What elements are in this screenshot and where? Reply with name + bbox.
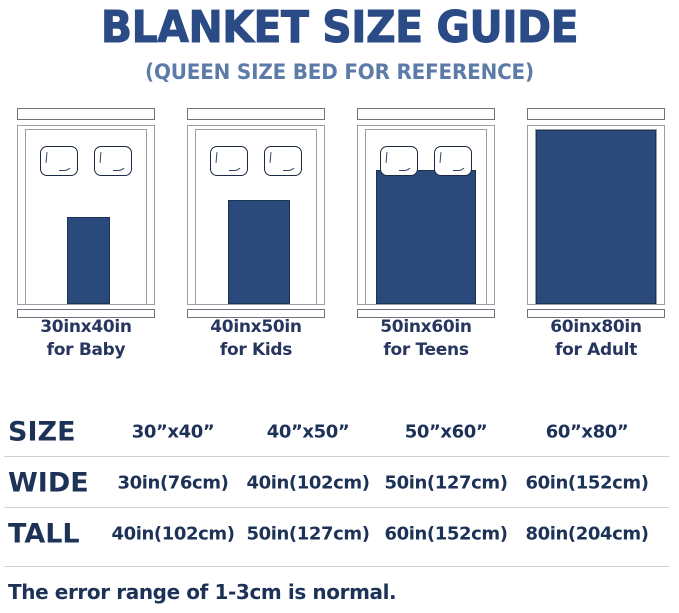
bed-size-text: 50inx60in [350, 316, 502, 339]
size-table: SIZE 30”x40” 40”x50” 50”x60” 60”x80” WID… [0, 406, 679, 559]
pillow-icon [210, 146, 248, 176]
table-row: WIDE 30in(76cm) 40in(102cm) 50in(127cm) … [0, 457, 679, 508]
table-cell: 50”x60” [381, 421, 511, 442]
row-label-wide: WIDE [8, 467, 89, 498]
bed-illustrations: 30inx40in for Baby 40inx50i [0, 108, 679, 358]
table-cell: 40in(102cm) [243, 472, 373, 493]
mattress-area [25, 129, 147, 304]
table-row: TALL 40in(102cm) 50in(127cm) 60in(152cm)… [0, 508, 679, 559]
bed-audience-text: for Teens [350, 339, 502, 362]
mattress-area [365, 129, 487, 304]
pillow-icon [380, 146, 418, 176]
bed-frame [187, 125, 325, 305]
bed-caption: 50inx60in for Teens [350, 316, 502, 361]
row-label-size: SIZE [8, 416, 76, 447]
footnote-text: The error range of 1-3cm is normal. [8, 580, 396, 604]
headboard-bar [187, 108, 325, 120]
pillow-icon [264, 146, 302, 176]
table-cell: 80in(204cm) [517, 523, 657, 544]
pillow-icon [434, 146, 472, 176]
table-cell: 60in(152cm) [381, 523, 511, 544]
bed-frame [357, 125, 495, 305]
bed-frame [527, 125, 665, 305]
table-cell: 50in(127cm) [243, 523, 373, 544]
bed-audience-text: for Adult [520, 339, 672, 362]
bed-size-text: 40inx50in [180, 316, 332, 339]
bed-caption: 30inx40in for Baby [10, 316, 162, 361]
blanket-size-guide-page: BLANKET SIZE GUIDE (QUEEN SIZE BED FOR R… [0, 0, 679, 613]
table-cell: 40in(102cm) [108, 523, 238, 544]
blanket-shape [228, 200, 289, 304]
pillow-icon [40, 146, 78, 176]
headboard-bar [527, 108, 665, 120]
table-cell: 60in(152cm) [517, 472, 657, 493]
pillow-icon [94, 146, 132, 176]
row-label-tall: TALL [8, 518, 80, 549]
blanket-shape [376, 170, 477, 304]
headboard-bar [357, 108, 495, 120]
bed-audience-text: for Kids [180, 339, 332, 362]
blanket-shape [67, 217, 110, 304]
page-subtitle: (QUEEN SIZE BED FOR REFERENCE) [17, 60, 662, 84]
bed-caption: 60inx80in for Adult [520, 316, 672, 361]
table-cell: 30”x40” [108, 421, 238, 442]
bed-frame [17, 125, 155, 305]
page-title: BLANKET SIZE GUIDE [24, 6, 655, 50]
table-cell: 50in(127cm) [381, 472, 511, 493]
footer-separator [4, 566, 669, 567]
bed-caption: 40inx50in for Kids [180, 316, 332, 361]
table-cell: 40”x50” [243, 421, 373, 442]
mattress-area [195, 129, 317, 304]
mattress-area [535, 129, 657, 304]
bed-size-text: 30inx40in [10, 316, 162, 339]
table-cell: 60”x80” [517, 421, 657, 442]
blanket-shape [536, 130, 656, 304]
table-row: SIZE 30”x40” 40”x50” 50”x60” 60”x80” [0, 406, 679, 457]
table-cell: 30in(76cm) [108, 472, 238, 493]
bed-audience-text: for Baby [10, 339, 162, 362]
headboard-bar [17, 108, 155, 120]
bed-size-text: 60inx80in [520, 316, 672, 339]
